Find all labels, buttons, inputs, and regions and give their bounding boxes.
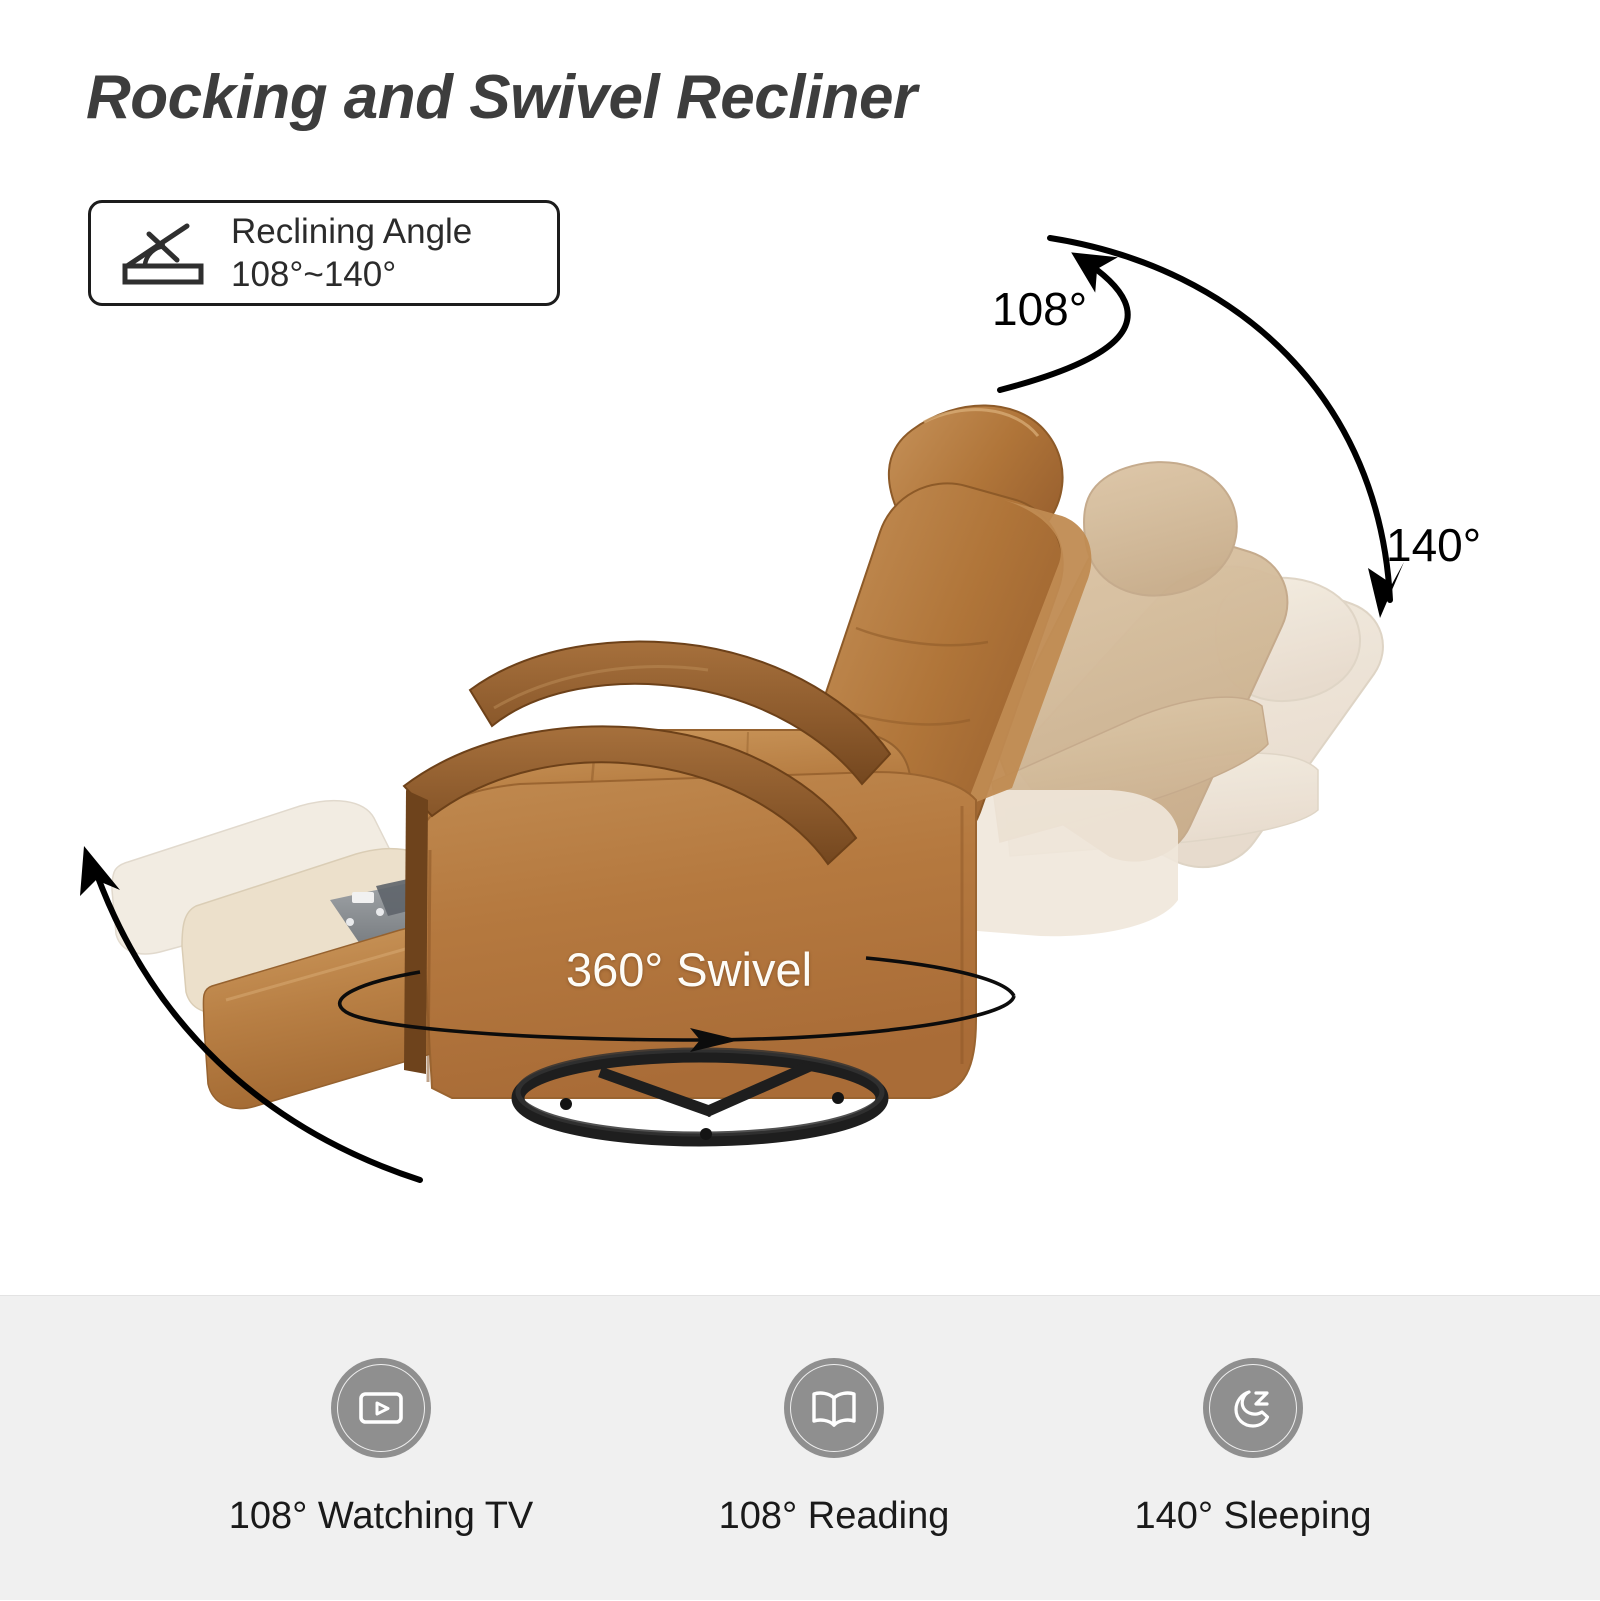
feature-sleeping: 140° Sleeping [1054, 1296, 1452, 1538]
feature-icon-badge [1203, 1358, 1303, 1458]
open-book-icon [807, 1381, 861, 1435]
moon-sleep-icon [1226, 1381, 1280, 1435]
armrest-front-post [404, 790, 428, 1074]
tv-play-icon [354, 1381, 408, 1435]
recliner-product-illustration [0, 0, 1600, 1300]
feature-label: 140° Sleeping [1134, 1495, 1371, 1538]
feature-footer: 108° Watching TV 108° Reading [0, 1295, 1600, 1600]
angle-label-140: 140° [1386, 518, 1481, 572]
feature-reading: 108° Reading [614, 1296, 1054, 1538]
angle-label-108: 108° [992, 282, 1087, 336]
feature-watching-tv: 108° Watching TV [148, 1296, 614, 1538]
feature-label: 108° Reading [719, 1495, 950, 1538]
swivel-caption: 360° Swivel [566, 942, 812, 997]
feature-label: 108° Watching TV [229, 1495, 534, 1538]
feature-icon-badge [784, 1358, 884, 1458]
infographic-canvas: Rocking and Swivel Recliner Reclining An… [0, 0, 1600, 1600]
feature-list: 108° Watching TV 108° Reading [148, 1296, 1452, 1601]
feature-icon-badge [331, 1358, 431, 1458]
